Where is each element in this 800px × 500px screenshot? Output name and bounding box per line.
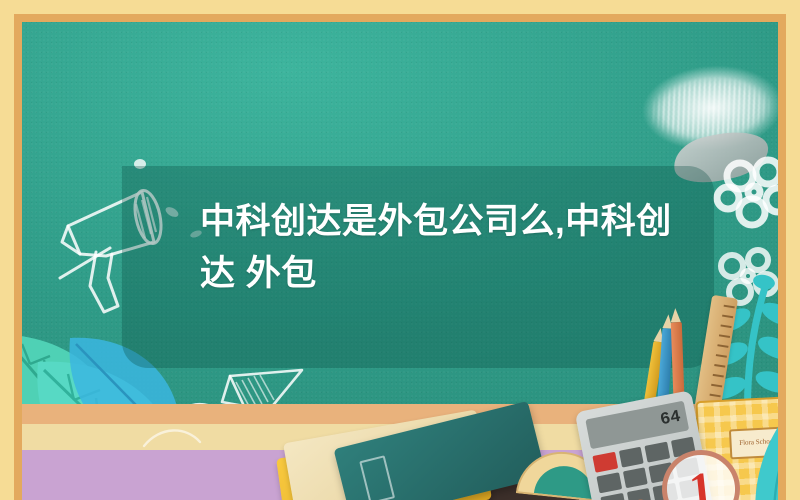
leaf-decoration [774,342,778,500]
leaf-decoration [722,374,778,500]
chalkboard: 中科创达是外包公司么,中科创达 外包 Flora Schools [22,22,778,500]
calculator-display-value: 64 [659,407,683,430]
page-title: 中科创达是外包公司么,中科创达 外包 [200,196,700,300]
magnifier-number: 1 [687,465,715,500]
banner-image: 中科创达是外包公司么,中科创达 外包 Flora Schools [0,0,800,500]
